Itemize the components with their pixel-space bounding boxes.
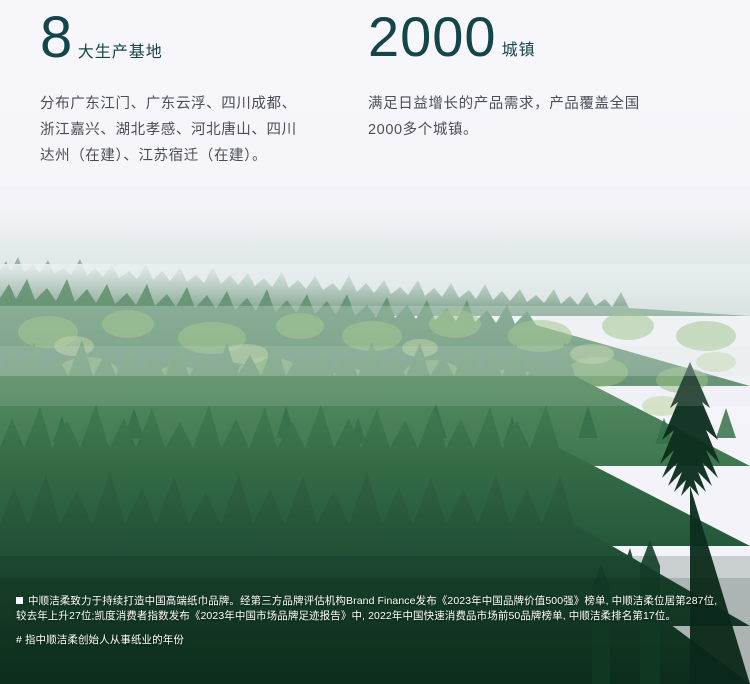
stat-description-towns: 满足日益增长的产品需求，产品覆盖全国2000多个城镇。 bbox=[368, 91, 668, 143]
stat-block-towns: 2000 城镇 满足日益增长的产品需求，产品覆盖全国2000多个城镇。 bbox=[368, 10, 668, 143]
stat-description-bases: 分布广东江门、广东云浮、四川成都、浙江嘉兴、湖北孝感、河北唐山、四川达州（在建）… bbox=[40, 91, 300, 169]
footnote-line-1-text: 中顺洁柔致力于持续打造中国高端纸巾品牌。经第三方品牌评估机构Brand Fina… bbox=[28, 595, 717, 607]
stat-block-bases: 8 大生产基地 分布广东江门、广东云浮、四川成都、浙江嘉兴、湖北孝感、河北唐山、… bbox=[40, 10, 300, 169]
stat-unit-bases: 大生产基地 bbox=[78, 45, 163, 65]
footnote-hash-note: # 指中顺洁柔创始人从事纸业的年份 bbox=[16, 633, 746, 648]
stat-headline-towns: 2000 城镇 bbox=[368, 10, 668, 63]
stat-number-bases: 8 bbox=[40, 10, 73, 65]
stat-unit-towns: 城镇 bbox=[502, 43, 536, 63]
brand-stats-page: 8 大生产基地 分布广东江门、广东云浮、四川成都、浙江嘉兴、湖北孝感、河北唐山、… bbox=[0, 0, 750, 684]
footnotes: 中顺洁柔致力于持续打造中国高端纸巾品牌。经第三方品牌评估机构Brand Fina… bbox=[16, 594, 746, 648]
stat-number-towns: 2000 bbox=[368, 10, 497, 63]
square-bullet-icon bbox=[16, 597, 23, 604]
footnote-line-2: 较去年上升27位;凯度消费者指数发布《2023年中国市场品牌足迹报告》中, 20… bbox=[16, 609, 746, 624]
stat-headline-bases: 8 大生产基地 bbox=[40, 10, 300, 65]
footnote-line-1: 中顺洁柔致力于持续打造中国高端纸巾品牌。经第三方品牌评估机构Brand Fina… bbox=[16, 594, 746, 609]
stats-band: 8 大生产基地 分布广东江门、广东云浮、四川成都、浙江嘉兴、湖北孝感、河北唐山、… bbox=[0, 0, 750, 205]
